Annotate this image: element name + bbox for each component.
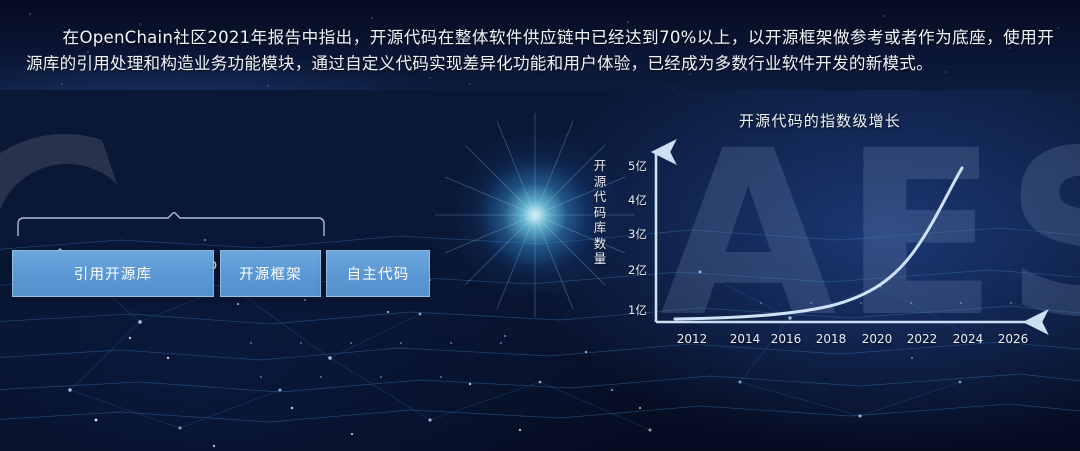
x-tick-label-2018: 2018 xyxy=(816,332,847,346)
x-tick-label-2020: 2020 xyxy=(862,332,893,346)
grouping-brace-icon xyxy=(16,212,336,236)
block-open-source-framework[interactable]: 开源框架 xyxy=(220,250,321,297)
x-tick-label-2026: 2026 xyxy=(998,332,1029,346)
block-open-source-library[interactable]: 引用开源库 xyxy=(12,250,214,297)
header-band: 在OpenChain社区2021年报告中指出，开源代码在整体软件供应链中已经达到… xyxy=(0,0,1080,90)
x-tick-label-2016: 2016 xyxy=(771,332,802,346)
illustration-area: AES xyxy=(0,90,1080,451)
slide-root: 在OpenChain社区2021年报告中指出，开源代码在整体软件供应链中已经达到… xyxy=(0,0,1080,451)
core-glow xyxy=(535,215,537,217)
x-tick-label-2014: 2014 xyxy=(730,332,761,346)
intro-paragraph: 在OpenChain社区2021年报告中指出，开源代码在整体软件供应链中已经达到… xyxy=(0,17,1080,78)
chart-series-line xyxy=(675,168,962,319)
block-label: 自主代码 xyxy=(347,263,410,284)
block-label: 开源框架 xyxy=(239,263,302,284)
block-label: 引用开源库 xyxy=(74,263,153,284)
block-proprietary-code[interactable]: 自主代码 xyxy=(326,250,430,297)
x-tick-label-2012: 2012 xyxy=(677,332,708,346)
chart-plot-area xyxy=(590,110,1050,335)
growth-chart: 开源代码的指数级增长 开源代码库数量 5亿 4亿 3亿 2亿 1亿 xyxy=(590,110,1050,370)
x-tick-label-2022: 2022 xyxy=(907,332,938,346)
x-tick-label-2024: 2024 xyxy=(953,332,984,346)
